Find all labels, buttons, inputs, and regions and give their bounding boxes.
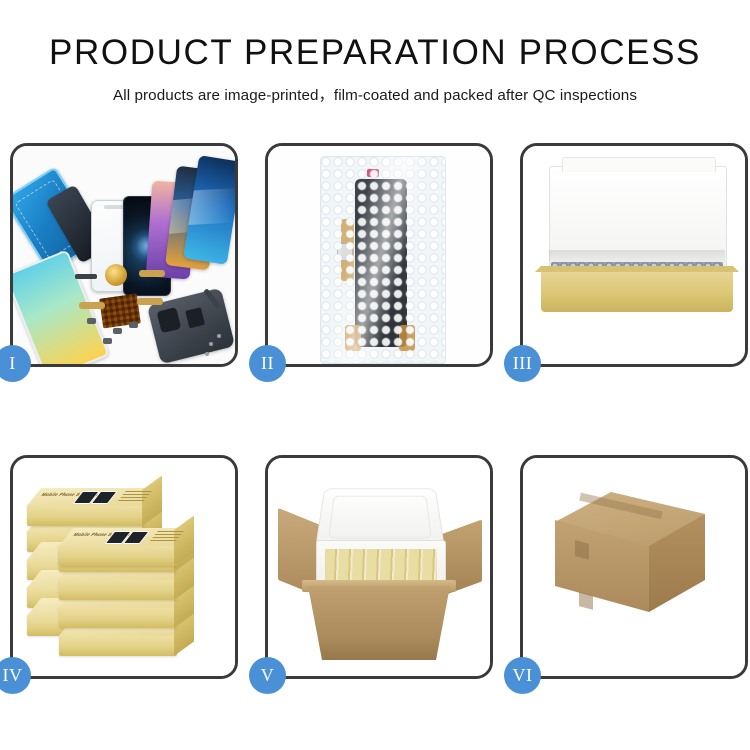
retail-box-printed: Mobile Phone Spare Parts [27, 504, 145, 526]
step-6-image [523, 458, 745, 676]
stacked-retail-boxes-illustration: Mobile Phone Spare Parts [13, 458, 235, 676]
step-4-image: Mobile Phone Spare Parts [13, 458, 235, 676]
process-step-panel-2: II [265, 143, 493, 367]
step-badge-6: VI [504, 657, 541, 694]
step-3-image [523, 146, 745, 364]
step-badge-5: V [249, 657, 286, 694]
bubble-wrapped-part-illustration [268, 146, 490, 364]
spare-part-chip [103, 338, 112, 344]
spare-part-bar [75, 274, 97, 279]
process-step-grid: I II [10, 143, 740, 679]
retail-box [59, 578, 177, 600]
sealed-shipping-carton-illustration [523, 458, 745, 676]
plastic-sheen [321, 157, 445, 363]
box-lid-print: Mobile Phone Spare Parts [27, 488, 159, 506]
box-spec-lines [116, 491, 151, 503]
page-subtitle: All products are image-printed，film-coat… [0, 73, 750, 105]
spare-part-screw [209, 342, 213, 346]
step-badge-4: IV [0, 657, 31, 694]
open-inner-box-illustration [523, 146, 745, 364]
bubble-wrap-bag [320, 156, 446, 364]
yellow-box-base [541, 266, 733, 312]
carton-with-foam-liner-illustration [268, 458, 490, 676]
step-2-image [268, 146, 490, 364]
box-lid-print: Mobile Phone Spare Parts [59, 528, 191, 546]
header: PRODUCT PREPARATION PROCESS All products… [0, 0, 750, 105]
spare-part-screw [205, 352, 209, 356]
spare-part-flex-cable [79, 302, 105, 309]
phone-screens-and-parts-illustration [13, 146, 235, 364]
step-badge-1: I [0, 345, 31, 382]
process-step-panel-6: VI [520, 455, 748, 679]
spare-part-flex-cable [139, 270, 165, 277]
spare-part-screw [217, 334, 221, 338]
retail-box [59, 634, 177, 656]
gold-coil-part [105, 264, 127, 286]
spare-part-chip [113, 328, 122, 334]
spare-part-flex-cable [137, 298, 163, 305]
process-step-panel-3: III [520, 143, 748, 367]
spare-part-chip [129, 322, 138, 328]
spare-part-chip [87, 318, 96, 324]
box-spec-lines [148, 531, 183, 543]
step-badge-3: III [504, 345, 541, 382]
step-badge-2: II [249, 345, 286, 382]
product-preparation-infographic: PRODUCT PREPARATION PROCESS All products… [0, 0, 750, 750]
step-5-image [268, 458, 490, 676]
process-step-panel-1: I [10, 143, 238, 367]
step-1-image [13, 146, 235, 364]
retail-box [59, 606, 177, 628]
process-step-panel-4: Mobile Phone Spare Parts [10, 455, 238, 679]
carton-tab [575, 540, 589, 560]
carton-body [308, 586, 450, 660]
page-title: PRODUCT PREPARATION PROCESS [0, 0, 750, 73]
retail-box-printed: Mobile Phone Spare Parts [59, 544, 177, 566]
process-step-panel-5: V [265, 455, 493, 679]
